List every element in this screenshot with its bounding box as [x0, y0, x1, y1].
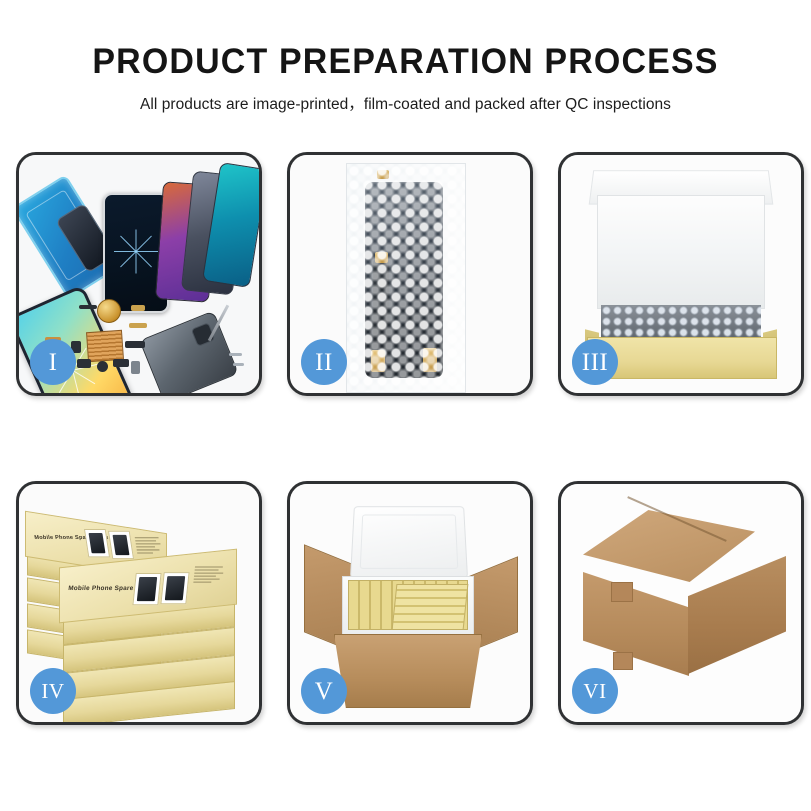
carton-top-face — [583, 510, 755, 582]
carton-tape-patch — [611, 582, 633, 602]
spec-text-lines — [135, 537, 163, 555]
component-chip — [233, 363, 244, 366]
component-chip — [77, 359, 91, 368]
phone-back-housing-icon — [139, 310, 239, 393]
packed-boxes-row-secondary — [392, 584, 469, 630]
screen-crack-pattern — [113, 228, 159, 274]
speaker-module-icon — [97, 299, 121, 323]
carton-left-face — [583, 572, 689, 676]
carton-tape-patch — [613, 652, 633, 670]
process-step-panel-iii: III — [558, 152, 804, 396]
page-title: PRODUCT PREPARATION PROCESS — [12, 44, 799, 81]
product-window — [84, 529, 110, 557]
process-step-panel-ii: II — [287, 152, 533, 396]
product-window — [160, 572, 189, 604]
component-chip — [113, 359, 129, 367]
step-badge-vi: VI — [572, 668, 618, 714]
process-step-panel-v: V — [287, 481, 533, 725]
component-chip — [131, 305, 145, 311]
spec-text-lines — [193, 567, 225, 585]
product-window — [132, 573, 161, 605]
page-subtitle: All products are image-printed，film-coat… — [0, 92, 811, 114]
component-chip — [125, 341, 145, 348]
carton-right-face — [688, 556, 786, 674]
foam-lid — [350, 506, 468, 578]
bubble-wrap-bag — [346, 163, 466, 393]
step-badge-iii: III — [572, 339, 618, 385]
process-step-panel-iv: Mobile Phone Spare Parts Mobile Phone Sp… — [16, 481, 262, 725]
process-step-panel-i: I — [16, 152, 262, 396]
product-preparation-infographic: PRODUCT PREPARATION PROCESS All products… — [0, 0, 811, 811]
box-inner-contents — [601, 305, 761, 339]
carton-front-face — [334, 634, 482, 708]
process-steps-grid: I II — [16, 152, 795, 725]
process-step-panel-vi: VI — [558, 481, 804, 725]
component-chip — [229, 353, 242, 356]
product-window — [108, 531, 134, 559]
component-chip — [97, 361, 108, 372]
component-chip — [79, 305, 97, 309]
step-badge-v: V — [301, 668, 347, 714]
bubble-wrap-fill-texture — [601, 305, 761, 339]
step-badge-iv: IV — [30, 668, 76, 714]
component-chip — [131, 361, 140, 374]
step-badge-ii: II — [301, 339, 347, 385]
bubble-texture-offset — [347, 164, 465, 392]
component-chip — [129, 323, 147, 328]
step-badge-i: I — [30, 339, 76, 385]
box-lid-face — [597, 195, 765, 309]
copper-mesh-component-icon — [86, 330, 124, 362]
header: PRODUCT PREPARATION PROCESS All products… — [0, 0, 811, 114]
